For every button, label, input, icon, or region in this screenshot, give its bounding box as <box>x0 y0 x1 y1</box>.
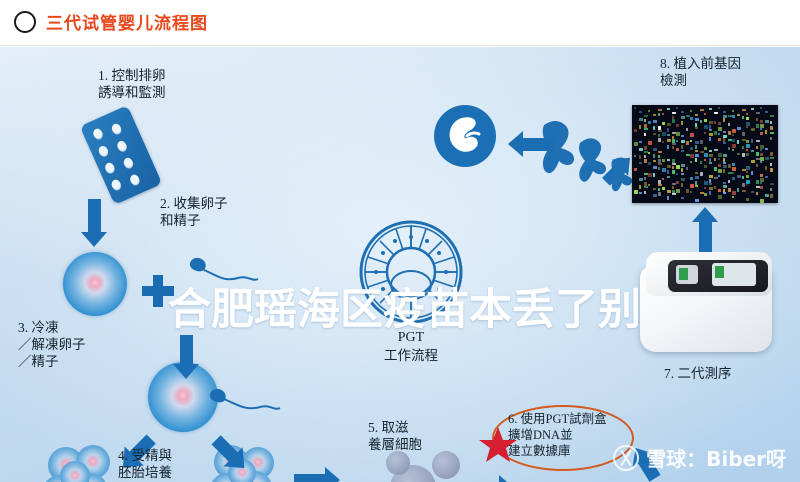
fetus-badge-icon <box>434 105 496 167</box>
step-3-label: 3. 冷凍 ／解凍卵子 ／精子 <box>18 319 86 370</box>
step-1-label: 1. 控制排卵 誘導和監測 <box>98 67 166 101</box>
sequencer-machine-icon <box>640 252 775 357</box>
arrow-left-to-fetus <box>508 131 554 158</box>
arrow-up-to-microarray <box>692 207 719 253</box>
overlay-watermark-text: 合肥瑶海区疫苗本丢了别 <box>168 275 641 337</box>
arrow-diagonal-right <box>208 431 256 479</box>
bottom-partial-text <box>8 472 19 481</box>
arrow-down-step1 <box>81 199 108 247</box>
sperm-entering-egg-icon <box>210 385 282 421</box>
pill-blister-pack-icon <box>80 105 162 205</box>
arrow-right-to-step6 <box>468 475 514 482</box>
screenshot-root: 三代试管婴儿流程图 1. 控制排卵 誘導和監測 3. 冷凍 ／解凍卵子 ／精子 … <box>0 0 800 482</box>
arrow-right-to-step5 <box>294 467 340 482</box>
frozen-egg-icon <box>63 252 127 316</box>
dna-microarray-icon <box>632 105 778 203</box>
corner-watermark: 雪球：Biber呀 <box>613 443 786 472</box>
step-5-label: 5. 取滋 養層細胞 <box>368 419 422 453</box>
step-4-label: 4. 受精與 胚胎培養 <box>118 447 172 481</box>
page-header: 三代试管婴儿流程图 <box>0 0 800 46</box>
page-title: 三代试管婴儿流程图 <box>46 9 208 34</box>
header-divider <box>0 45 800 46</box>
ivf-flow-diagram: 1. 控制排卵 誘導和監測 3. 冷凍 ／解凍卵子 ／精子 2. 收集卵子 和精… <box>0 47 800 482</box>
corner-watermark-text: 雪球：Biber呀 <box>646 443 786 472</box>
pgt-subtitle: 工作流程 <box>358 347 464 364</box>
arrow-down-to-fertilization <box>173 335 200 379</box>
step-6-label: 6. 使用PGT試劑盒 擴增DNA並 建立數據庫 <box>508 411 607 459</box>
circle-outline-icon <box>14 11 36 33</box>
step-7-label: 7. 二代測序 <box>664 365 732 382</box>
xueqiu-logo-icon <box>613 445 639 471</box>
step-8-label: 8. 植入前基因 檢測 <box>660 55 741 89</box>
step-2-label: 2. 收集卵子 和精子 <box>160 195 228 229</box>
